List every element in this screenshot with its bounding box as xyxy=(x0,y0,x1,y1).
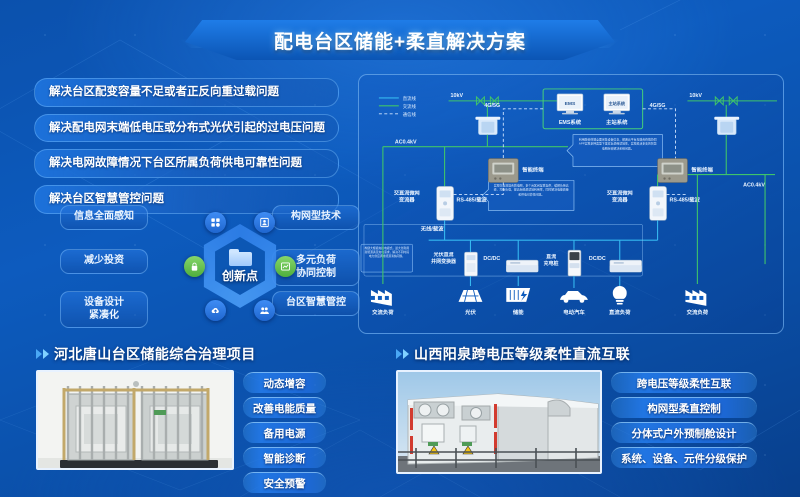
left-hv-feeder: 10kV AC0.4kV xyxy=(383,93,568,147)
page-title: 配电台区储能+柔直解决方案 xyxy=(274,27,526,54)
callout-top: 利用融合终端全面采集设备信息，部署云平台及融合终端协同APP实现多种类型下发就近… xyxy=(567,135,663,167)
transformer-left xyxy=(475,117,500,135)
project-right-photo xyxy=(396,370,602,474)
cloud-icon[interactable] xyxy=(205,300,226,321)
comms-label-right: 4G/5G xyxy=(650,103,666,109)
diagram-legend: 直流线 交流线 通信线 xyxy=(379,95,417,118)
project-left-photo xyxy=(36,370,234,470)
dcdc-converter-1[interactable]: DC/DC xyxy=(483,256,538,272)
dcdc-label-2: DC/DC xyxy=(589,256,606,262)
comms-label-left: 4G/5G xyxy=(484,103,500,109)
load-label-ac-left: 交流负荷 xyxy=(372,308,394,316)
ems-monitor: EMS xyxy=(557,94,583,115)
problem-item-1: 解决台区配变容量不足或者正反向重过载问题 xyxy=(34,78,339,107)
project-right-tags: 跨电压等级柔性互联 构网型柔直控制 分体式户外预制舱设计 系统、设备、元件分级保… xyxy=(611,370,757,468)
master-caption: 主站系统 xyxy=(606,118,628,126)
innovation-label-left-1: 信息全面感知 xyxy=(60,205,148,230)
ems-caption: EMS系统 xyxy=(559,118,582,126)
load-ac-left: 交流负荷 xyxy=(371,147,394,316)
system-diagram: 直流线 交流线 通信线 10kV AC0.4kV 10kV xyxy=(359,75,783,334)
innovation-hexagon: 创新点 xyxy=(190,216,290,316)
load-storage: 储能 xyxy=(506,276,530,316)
smart-terminal-left[interactable]: 智能终端 xyxy=(488,159,544,183)
converter-label-right: 交直流微网 变流器 xyxy=(592,190,648,204)
folder-icon xyxy=(229,249,252,266)
chart-icon[interactable] xyxy=(275,256,296,277)
tag-item: 改善电能质量 xyxy=(243,397,326,418)
project-left-body: 动态增容 改善电能质量 备用电源 智能诊断 安全预警 远程管理 xyxy=(36,370,376,497)
charging-pile[interactable]: 直流 充电桩 xyxy=(536,250,581,276)
photo-outdoor-cabin xyxy=(398,372,602,474)
callout-top-text: 利用融合终端全面采集设备信息，部署云平台及融合终端协同APP实现多种类型下发就近… xyxy=(576,137,660,152)
terminal-label-right: 智能终端 xyxy=(691,166,713,174)
project-left-title: 河北唐山台区储能综合治理项目 xyxy=(54,344,256,364)
innovation-cluster: 信息全面感知 减少投资 设备设计 紧凑化 构网型技术 多元负荷 协同控制 台区智… xyxy=(60,203,360,329)
user-icon[interactable] xyxy=(254,212,275,233)
project-left-tags: 动态增容 改善电能质量 备用电源 智能诊断 安全预警 远程管理 xyxy=(243,370,326,497)
bus-label-right: RS-485/载波 xyxy=(670,195,701,203)
innovation-label-right-2-text: 多元负荷 协同控制 xyxy=(296,255,336,279)
project-right-body: 跨电压等级柔性互联 构网型柔直控制 分体式户外预制舱设计 系统、设备、元件分级保… xyxy=(396,370,788,474)
tag-item: 动态增容 xyxy=(243,372,326,393)
legend-label-comm: 通信线 xyxy=(403,111,417,118)
transformer-right xyxy=(714,117,739,135)
system-diagram-panel: 直流线 交流线 通信线 10kV AC0.4kV 10kV xyxy=(358,74,784,334)
load-pv: 光伏 xyxy=(459,276,483,316)
load-label-ev: 电动汽车 xyxy=(563,308,585,316)
load-label-dc: 直流负荷 xyxy=(609,308,631,316)
load-dc: 直流负荷 xyxy=(609,276,631,316)
pv-inverter[interactable]: 光伏直流 并网变换器 xyxy=(423,252,478,276)
master-screen-text: 主站系统 xyxy=(608,100,625,106)
callout-middle: 实现交直流混合微电网，多个台区间互联互供，缓解负荷高峰、均衡负载，提高新能源就地… xyxy=(482,180,574,210)
master-monitor: 主站系统 xyxy=(604,94,630,115)
chevron-right-icon xyxy=(36,349,49,359)
innovation-label-left-2: 减少投资 xyxy=(60,249,148,274)
callout-left-text: 构建大规模充换电模式，最大化利用新能源满足充电需求，解决不同时段电力供应调峰能源… xyxy=(363,245,411,259)
tag-item: 跨电压等级柔性互联 xyxy=(611,372,757,393)
terminal-label-left: 智能终端 xyxy=(522,166,544,174)
problem-item-2: 解决配电网末端低电压或分布式光伏引起的过电压问题 xyxy=(34,114,339,143)
problem-list: 解决台区配变容量不足或者正反向重过载问题 解决配电网末端低电压或分布式光伏引起的… xyxy=(34,78,339,214)
project-right-title: 山西阳泉跨电压等级柔性直流互联 xyxy=(414,344,630,364)
tag-item: 安全预警 xyxy=(243,472,326,493)
load-label-ac-right: 交流负荷 xyxy=(687,308,709,316)
bus-label-left: RS-485/载波 xyxy=(457,195,488,203)
innovation-label-left-3: 设备设计 紧凑化 xyxy=(60,291,148,328)
tag-item: 分体式户外预制舱设计 xyxy=(611,422,757,443)
converter-right[interactable]: 交直流微网 变流器 RS-485/载波 xyxy=(592,175,701,241)
smart-terminal-right[interactable]: 智能终端 xyxy=(658,159,714,183)
load-label-pv: 光伏 xyxy=(464,308,476,316)
ems-system-box: EMS EMS系统 主站系统 主站系统 xyxy=(543,89,643,129)
tag-item: 系统、设备、元件分级保护 xyxy=(611,447,757,468)
dashboard-icon[interactable] xyxy=(205,212,226,233)
photo-storage-cabinet xyxy=(38,372,234,470)
innovation-label-left-3-text: 设备设计 紧凑化 xyxy=(84,297,124,321)
innovation-center-label: 创新点 xyxy=(222,267,258,284)
tag-item: 智能诊断 xyxy=(243,447,326,468)
callout-left: 构建大规模充换电模式，最大化利用新能源满足充电需求，解决不同时段电力供应调峰能源… xyxy=(361,244,413,272)
charging-pile-label: 直流 充电桩 xyxy=(536,254,566,267)
tag-item: 备用电源 xyxy=(243,422,326,443)
load-ev: 电动汽车 xyxy=(560,276,588,316)
load-ac-right: 交流负荷 xyxy=(685,175,708,316)
dcdc-label-1: DC/DC xyxy=(483,256,500,262)
pv-inverter-label: 光伏直流 并网变换器 xyxy=(423,252,465,265)
tag-item: 构网型柔直控制 xyxy=(611,397,757,418)
converter-label-left: 交直流微网 变流器 xyxy=(379,190,435,204)
people-icon[interactable] xyxy=(254,300,275,321)
legend-label-dc: 直流线 xyxy=(403,95,417,102)
project-card-left: 河北唐山台区储能综合治理项目 xyxy=(36,344,376,492)
legend-label-ac: 交流线 xyxy=(403,103,417,110)
voltage-label-left: 10kV xyxy=(451,93,464,99)
dcdc-converter-2[interactable]: DC/DC xyxy=(589,256,642,272)
lv-label-right: AC0.4kV xyxy=(743,182,765,188)
page-title-bar: 配电台区储能+柔直解决方案 xyxy=(0,14,800,66)
voltage-label-right: 10kV xyxy=(689,93,702,99)
chevron-right-icon xyxy=(396,349,409,359)
load-label-storage: 储能 xyxy=(512,308,524,316)
lv-label-left: AC0.4kV xyxy=(395,140,417,146)
wireless-label: 无线/载波 xyxy=(421,224,445,232)
problem-item-3: 解决电网故障情况下台区所属负荷供电可靠性问题 xyxy=(34,149,339,178)
project-card-right: 山西阳泉跨电压等级柔性直流互联 xyxy=(396,344,788,492)
ems-screen-text: EMS xyxy=(565,101,576,107)
lock-icon[interactable] xyxy=(184,256,205,277)
project-left-header: 河北唐山台区储能综合治理项目 xyxy=(36,344,376,364)
project-right-header: 山西阳泉跨电压等级柔性直流互联 xyxy=(396,344,788,364)
